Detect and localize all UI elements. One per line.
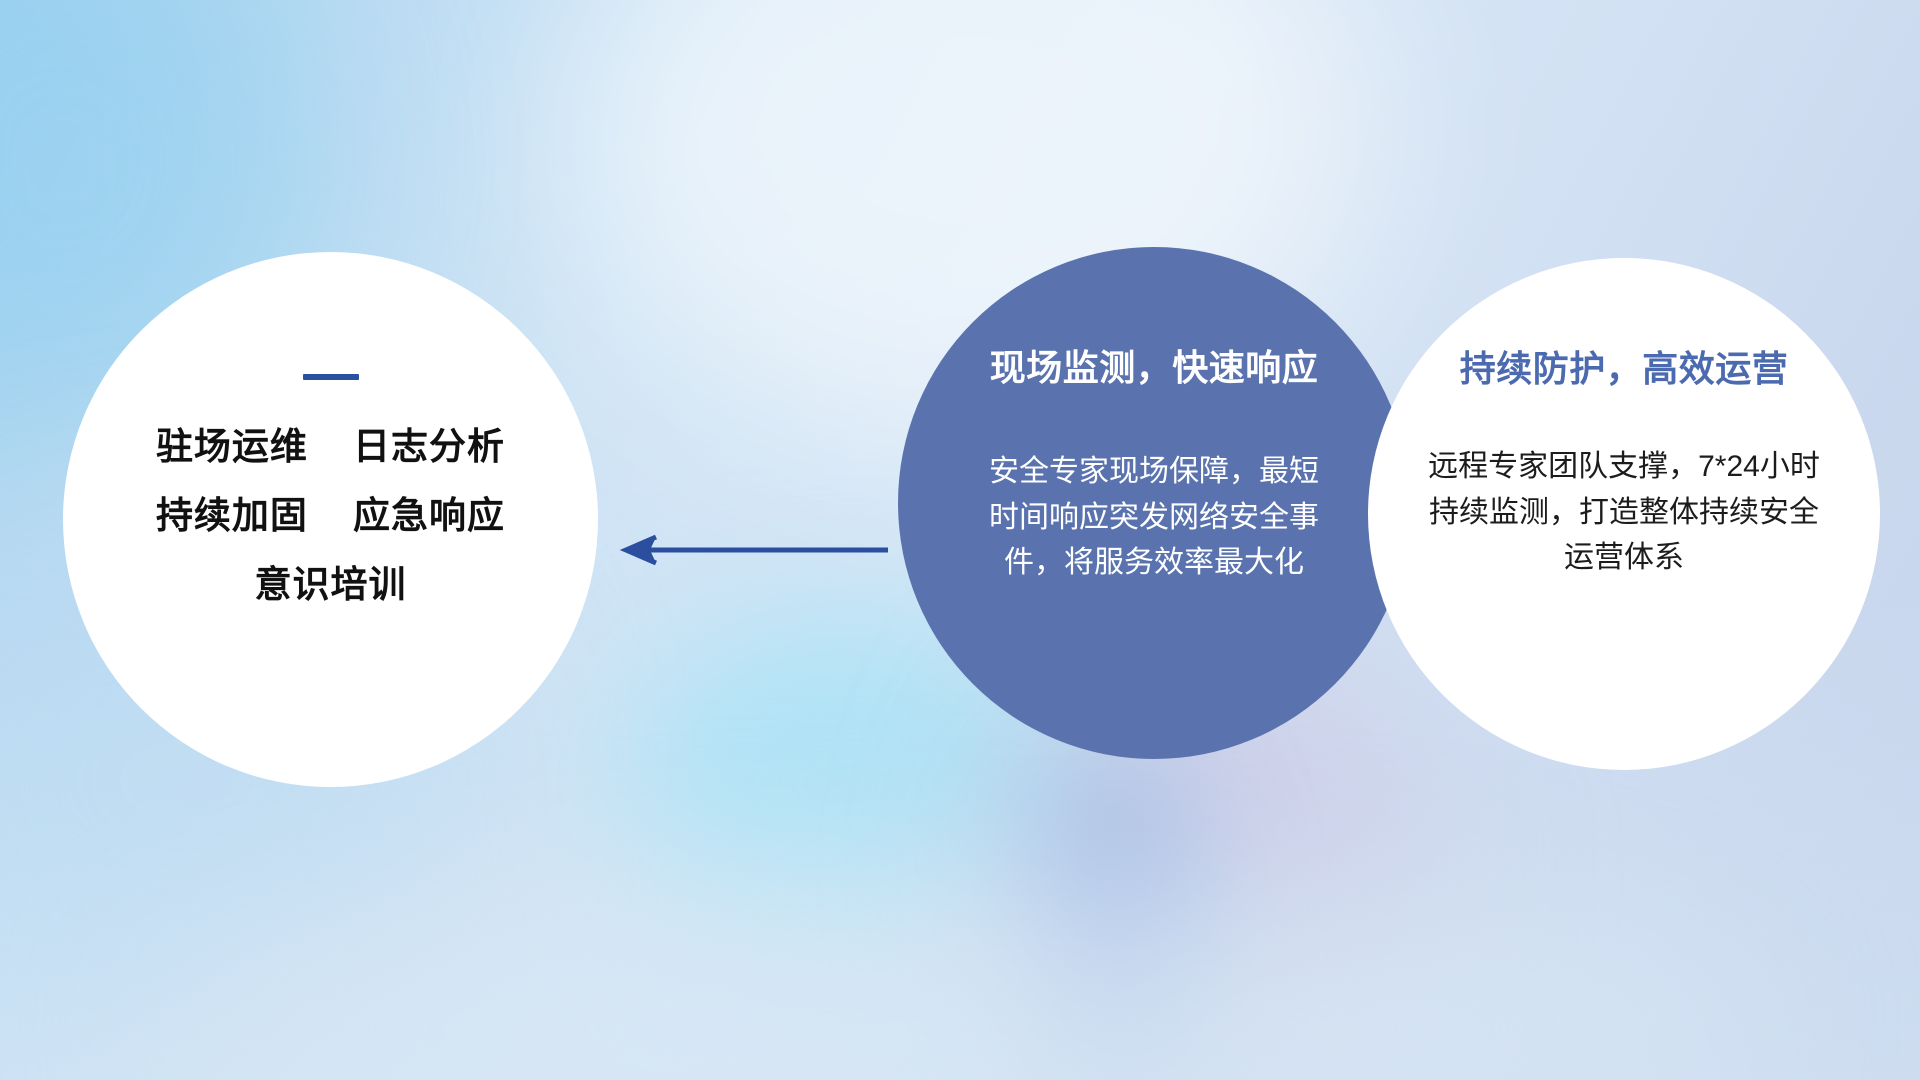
capability-circle-left-content: 驻场运维 日志分析 持续加固 应急响应 意识培训 xyxy=(63,252,598,603)
slide-canvas: 驻场运维 日志分析 持续加固 应急响应 意识培训 现场监测，快速响应 安全专家现… xyxy=(0,0,1920,1080)
onsite-monitoring-body: 安全专家现场保障，最短时间响应突发网络安全事件，将服务效率最大化 xyxy=(989,449,1319,586)
continuous-protection-content: 持续防护，高效运营 远程专家团队支撑，7*24小时持续监测，打造整体持续安全运营… xyxy=(1368,258,1880,581)
onsite-monitoring-content: 现场监测，快速响应 安全专家现场保障，最短时间响应突发网络安全事件，将服务效率最… xyxy=(898,247,1410,586)
accent-dash-divider xyxy=(303,374,359,380)
continuous-protection-circle: 持续防护，高效运营 远程专家团队支撑，7*24小时持续监测，打造整体持续安全运营… xyxy=(1368,258,1880,770)
onsite-monitoring-circle: 现场监测，快速响应 安全专家现场保障，最短时间响应突发网络安全事件，将服务效率最… xyxy=(898,247,1410,759)
capability-circle-left: 驻场运维 日志分析 持续加固 应急响应 意识培训 xyxy=(63,252,598,787)
capability-line-3: 意识培训 xyxy=(255,566,407,603)
onsite-monitoring-title: 现场监测，快速响应 xyxy=(990,339,1319,391)
continuous-protection-body: 远程专家团队支撑，7*24小时持续监测，打造整体持续安全运营体系 xyxy=(1419,444,1829,581)
continuous-protection-title: 持续防护，高效运营 xyxy=(1460,340,1789,392)
capability-line-1: 驻场运维 日志分析 xyxy=(156,428,505,465)
capability-line-2: 持续加固 应急响应 xyxy=(156,497,505,534)
flow-arrow-icon xyxy=(600,518,890,582)
